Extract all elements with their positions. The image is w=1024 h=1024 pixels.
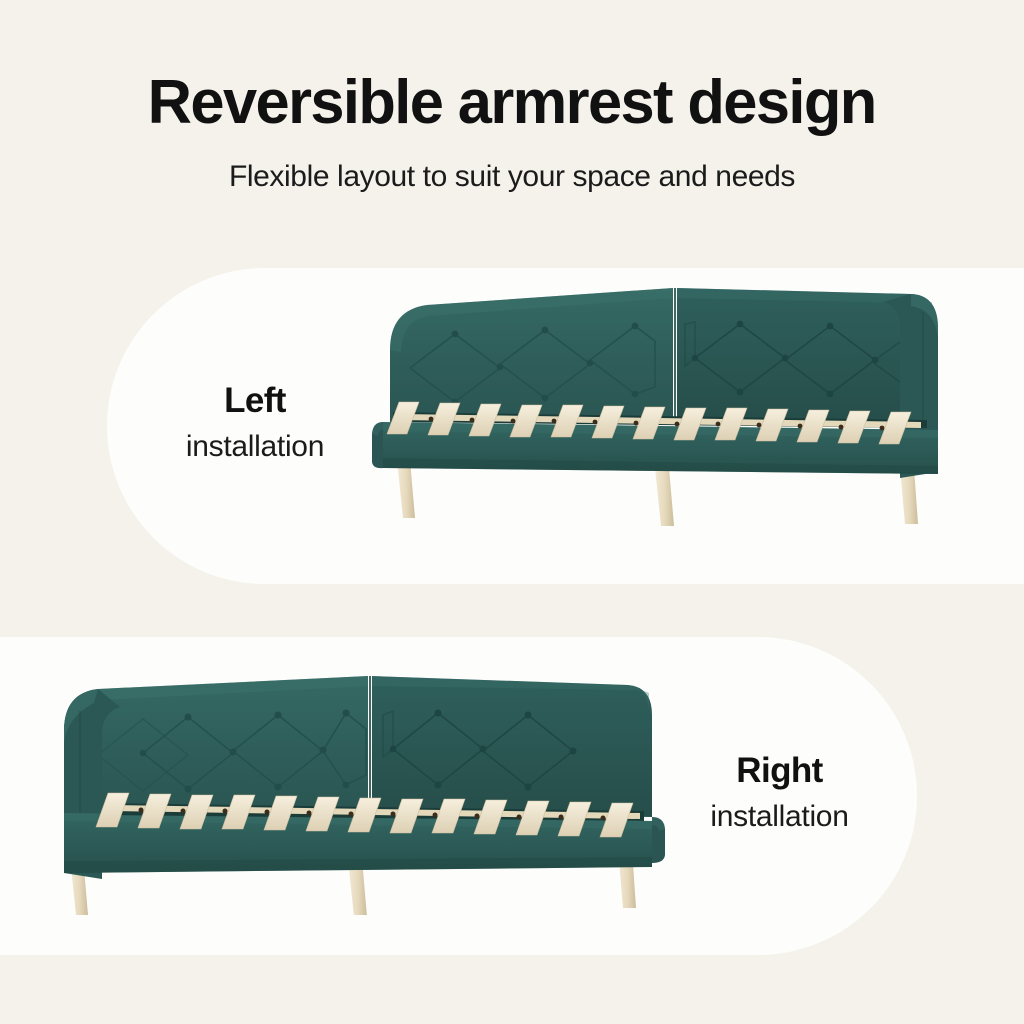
label-left-weak: installation xyxy=(150,432,360,462)
label-left-installation: Left installation xyxy=(150,383,360,462)
label-right-weak: installation xyxy=(672,802,887,832)
label-right-strong: Right xyxy=(672,753,887,788)
bed-svg-left xyxy=(355,272,955,532)
bed-svg-right xyxy=(28,645,678,915)
label-right-installation: Right installation xyxy=(672,753,887,832)
header: Reversible armrest design Flexible layou… xyxy=(0,0,1024,250)
bed-illustration-left-installation xyxy=(355,272,955,532)
bed-open-end-right xyxy=(652,817,665,863)
bed-illustration-right-installation xyxy=(28,645,678,915)
bed-open-end-left xyxy=(372,422,383,468)
page-subtitle: Flexible layout to suit your space and n… xyxy=(229,160,795,194)
page-title: Reversible armrest design xyxy=(148,72,876,134)
bed-headboard xyxy=(390,288,935,422)
label-left-strong: Left xyxy=(150,383,360,418)
